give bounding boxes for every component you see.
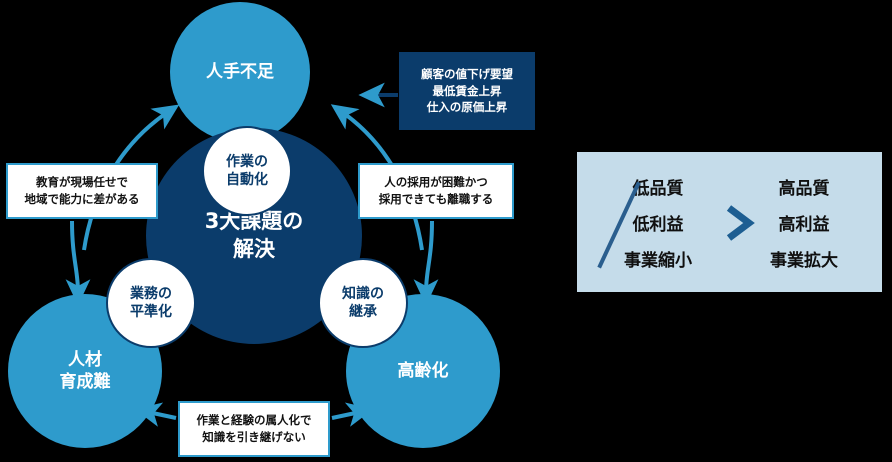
circle-work-standardization[interactable]: 業務の 平準化 <box>106 258 196 348</box>
callout-line: 人の採用が困難かつ <box>379 174 493 191</box>
callout-line: 地域で能力に差がある <box>25 191 140 208</box>
callout-line: 教育が現場任せで <box>25 174 140 191</box>
circle-label: 作業の 自動化 <box>226 153 268 190</box>
comparison-panel: 低品質 低利益 事業縮小 高品質 高利益 事業拡大 <box>577 152 882 292</box>
comparison-after-item: 事業拡大 <box>770 246 838 271</box>
circle-knowledge-transfer[interactable]: 知識の 継承 <box>318 258 408 348</box>
callout-line: 顧客の値下げ要望 <box>421 66 513 83</box>
circle-label: 知識の 継承 <box>342 285 384 322</box>
arrow-saiyo-to-koreika <box>426 221 432 292</box>
center-title: 3大課題の 解決 <box>205 208 304 263</box>
callout-education-onsite[interactable]: 教育が現場任せで 地域で能力に差がある <box>6 163 158 219</box>
callout-cost-pressure[interactable]: 顧客の値下げ要望 最低賃金上昇 仕入の原価上昇 <box>399 52 535 130</box>
callout-line: 知識を引き継げない <box>197 429 312 446</box>
comparison-after-column: 高品質 高利益 事業拡大 <box>745 152 863 292</box>
comparison-before-column: 低品質 低利益 事業縮小 <box>599 152 717 292</box>
comparison-before-item: 事業縮小 <box>624 246 692 271</box>
circle-labor-shortage[interactable]: 人手不足 <box>170 2 310 142</box>
diagram-canvas: 人手不足 人材 育成難 高齢化 3大課題の 解決 作業の 自動化 業務の 平準化… <box>0 0 892 462</box>
circle-label: 高齢化 <box>398 360 449 382</box>
comparison-before-item: 低利益 <box>633 210 684 235</box>
comparison-after-item: 高利益 <box>779 210 830 235</box>
circle-label: 業務の 平準化 <box>130 285 172 322</box>
circle-label: 人材 育成難 <box>60 349 111 394</box>
comparison-before-item: 低品質 <box>633 174 684 199</box>
circle-work-automation[interactable]: 作業の 自動化 <box>202 126 292 216</box>
callout-line: 最低賃金上昇 <box>421 83 513 100</box>
arrow-zokujin-to-koreika <box>332 412 360 418</box>
callout-hiring-difficulty[interactable]: 人の採用が困難かつ 採用できても離職する <box>358 163 514 219</box>
circle-label: 人手不足 <box>206 61 274 83</box>
callout-line: 仕入の原価上昇 <box>421 99 513 116</box>
arrow-zokujin-to-jinzai <box>148 412 176 418</box>
callout-line: 作業と経験の属人化で <box>197 412 312 429</box>
arrow-kyoiku-to-jinzai <box>72 221 78 292</box>
comparison-after-item: 高品質 <box>779 174 830 199</box>
callout-personalized-knowledge[interactable]: 作業と経験の属人化で 知識を引き継げない <box>178 401 330 457</box>
callout-line: 採用できても離職する <box>379 191 493 208</box>
